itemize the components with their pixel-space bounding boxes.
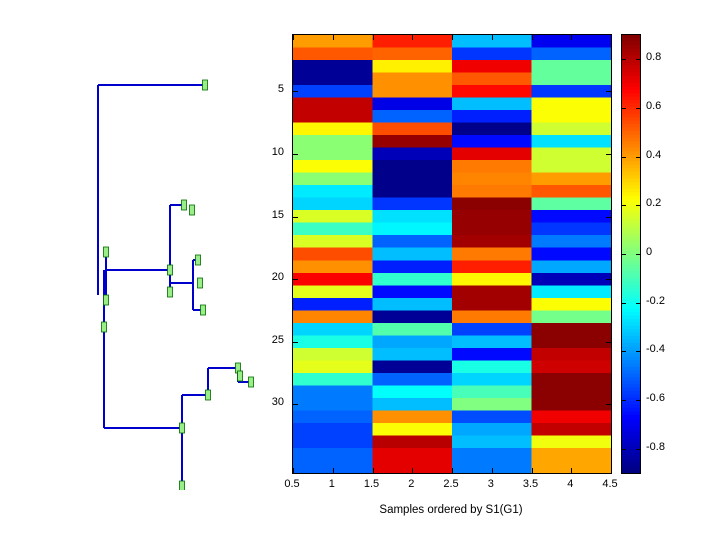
colorbar-band	[622, 189, 640, 193]
heatmap-cell[interactable]	[373, 448, 453, 461]
colorbar-band	[622, 333, 640, 337]
heatmap-cell[interactable]	[452, 423, 532, 436]
dendrogram-svg	[60, 20, 260, 490]
colorbar-tick	[622, 157, 626, 158]
heatmap-cell[interactable]	[293, 73, 373, 86]
heatmap-cell[interactable]	[373, 423, 453, 436]
colorbar-band	[622, 463, 640, 467]
colorbar-tick	[622, 351, 626, 352]
heatmap-cell[interactable]	[293, 448, 373, 461]
heatmap-cell[interactable]	[452, 73, 532, 86]
heatmap-cell[interactable]	[293, 323, 373, 336]
colorbar-label: 0.6	[646, 100, 661, 112]
colorbar-band	[622, 103, 640, 107]
colorbar-band	[622, 456, 640, 460]
heatmap-cell[interactable]	[452, 98, 532, 111]
colorbar-tick	[636, 449, 640, 450]
colorbar-label: 0.8	[646, 51, 661, 63]
colorbar-band	[622, 384, 640, 388]
colorbar-band	[622, 408, 640, 412]
colorbar-band	[622, 264, 640, 268]
heatmap-cell[interactable]	[532, 160, 612, 173]
colorbar-band	[622, 292, 640, 296]
heatmap-cell[interactable]	[452, 160, 532, 173]
colorbar-label: -0.4	[646, 343, 665, 355]
colorbar-band	[622, 247, 640, 251]
colorbar-label: 0.2	[646, 197, 661, 209]
colorbar[interactable]	[621, 34, 641, 474]
heatmap-cell[interactable]	[373, 398, 453, 411]
heatmap-cell[interactable]	[452, 198, 532, 211]
colorbar-band	[622, 145, 640, 149]
colorbar-band	[622, 377, 640, 381]
colorbar-band	[622, 257, 640, 261]
y-tick-label: 25	[254, 334, 284, 346]
heatmap-cell[interactable]	[532, 85, 612, 98]
heatmap-cell[interactable]	[452, 398, 532, 411]
heatmap-cell[interactable]	[452, 85, 532, 98]
heatmap-cell[interactable]	[452, 173, 532, 186]
heatmap-cell[interactable]	[452, 348, 532, 361]
colorbar-band	[622, 210, 640, 214]
heatmap-cell[interactable]	[452, 385, 532, 398]
colorbar-band	[622, 42, 640, 46]
heatmap-cell[interactable]	[532, 448, 612, 461]
heatmap-cell[interactable]	[373, 210, 453, 223]
heatmap-cell[interactable]	[293, 248, 373, 261]
colorbar-label: -0.2	[646, 295, 665, 307]
colorbar-band	[622, 148, 640, 152]
colorbar-tick	[636, 400, 640, 401]
heatmap-cell[interactable]	[452, 223, 532, 236]
colorbar-band	[622, 69, 640, 73]
colorbar-band	[622, 278, 640, 282]
colorbar-band	[622, 114, 640, 118]
colorbar-band	[622, 353, 640, 357]
x-tick-label: 2.5	[433, 478, 469, 490]
heatmap-cell[interactable]	[532, 60, 612, 73]
colorbar-band	[622, 216, 640, 220]
heatmap-cell[interactable]	[532, 398, 612, 411]
heatmap-cell[interactable]	[373, 60, 453, 73]
heatmap-cell[interactable]	[452, 298, 532, 311]
colorbar-band	[622, 196, 640, 200]
dendrogram-panel	[60, 20, 260, 490]
y-tick-label: 10	[254, 146, 284, 158]
colorbar-tick	[622, 400, 626, 401]
heatmap-cell[interactable]	[293, 198, 373, 211]
heatmap-cell[interactable]	[452, 123, 532, 136]
heatmap-cell[interactable]	[293, 373, 373, 386]
colorbar-tick	[636, 59, 640, 60]
heatmap-cell[interactable]	[452, 235, 532, 248]
heatmap-cell[interactable]	[452, 60, 532, 73]
x-tick	[571, 35, 572, 40]
colorbar-band	[622, 35, 640, 39]
heatmap-cell[interactable]	[373, 335, 453, 348]
y-tick-label: 30	[254, 396, 284, 408]
dendrogram-node-marker[interactable]	[168, 287, 173, 297]
colorbar-tick	[622, 449, 626, 450]
heatmap-cell[interactable]	[293, 60, 373, 73]
colorbar-band	[622, 79, 640, 83]
colorbar-band	[622, 134, 640, 138]
colorbar-band	[622, 411, 640, 415]
colorbar-label: 0.4	[646, 149, 661, 161]
colorbar-band	[622, 261, 640, 265]
heatmap-cell[interactable]	[373, 435, 453, 448]
heatmap-cell[interactable]	[532, 335, 612, 348]
colorbar-band	[622, 223, 640, 227]
colorbar-band	[622, 319, 640, 323]
colorbar-band	[622, 117, 640, 121]
heatmap-cell[interactable]	[373, 173, 453, 186]
heatmap-cell[interactable]	[532, 260, 612, 273]
colorbar-band	[622, 439, 640, 443]
heatmap-cell[interactable]	[293, 123, 373, 136]
heatmap-cell[interactable]	[293, 385, 373, 398]
heatmap-cell[interactable]	[373, 85, 453, 98]
colorbar-band	[622, 316, 640, 320]
dendrogram-node-marker[interactable]	[238, 371, 243, 381]
colorbar-tick	[622, 205, 626, 206]
heatmap-cell[interactable]	[452, 110, 532, 123]
heatmap-cell[interactable]	[373, 185, 453, 198]
dendrogram-node-marker[interactable]	[196, 255, 201, 265]
dendrogram-node-marker[interactable]	[102, 322, 107, 332]
colorbar-band	[622, 49, 640, 53]
colorbar-band	[622, 151, 640, 155]
colorbar-band	[622, 86, 640, 90]
colorbar-band	[622, 62, 640, 66]
heatmap-cell[interactable]	[532, 248, 612, 261]
heatmap-cell[interactable]	[452, 310, 532, 323]
x-tick-label: 2	[393, 478, 429, 490]
dendrogram-node-marker[interactable]	[206, 390, 211, 400]
heatmap-cell[interactable]	[532, 185, 612, 198]
heatmap-cell[interactable]	[293, 398, 373, 411]
colorbar-band	[622, 230, 640, 234]
heatmap-cell[interactable]	[373, 160, 453, 173]
heatmap-cell[interactable]	[293, 360, 373, 373]
colorbar-band	[622, 415, 640, 419]
dendrogram-node-marker[interactable]	[104, 247, 109, 257]
dendrogram-node-marker[interactable]	[203, 80, 208, 90]
heatmap-cell[interactable]	[293, 85, 373, 98]
dendrogram-node-marker[interactable]	[168, 265, 173, 275]
heatmap-cell[interactable]	[293, 335, 373, 348]
heatmap-cell[interactable]	[293, 223, 373, 236]
heatmap-cell[interactable]	[293, 185, 373, 198]
heatmap-cell[interactable]	[293, 285, 373, 298]
colorbar-band	[622, 281, 640, 285]
colorbar-band	[622, 435, 640, 439]
heatmap-cell[interactable]	[293, 160, 373, 173]
heatmap-cell[interactable]	[293, 348, 373, 361]
heatmap-cell[interactable]	[373, 310, 453, 323]
x-tick	[571, 468, 572, 473]
colorbar-band	[622, 124, 640, 128]
heatmap-cell[interactable]	[532, 273, 612, 286]
colorbar-band	[622, 346, 640, 350]
heatmap-cell[interactable]	[532, 123, 612, 136]
heatmap-cell[interactable]	[532, 323, 612, 336]
colorbar-band	[622, 268, 640, 272]
heatmap-grid[interactable]	[293, 35, 611, 473]
heatmap-cell[interactable]	[452, 273, 532, 286]
colorbar-band	[622, 220, 640, 224]
colorbar-band	[622, 127, 640, 131]
colorbar-band	[622, 66, 640, 70]
heatmap-cell[interactable]	[293, 110, 373, 123]
heatmap-cell[interactable]	[532, 173, 612, 186]
heatmap-cell[interactable]	[532, 423, 612, 436]
colorbar-band	[622, 381, 640, 385]
heatmap-cell[interactable]	[452, 335, 532, 348]
x-tick	[611, 468, 612, 473]
colorbar-band	[622, 343, 640, 347]
heatmap-cell[interactable]	[373, 373, 453, 386]
colorbar-band	[622, 360, 640, 364]
colorbar-band	[622, 470, 640, 473]
heatmap-cell[interactable]	[532, 235, 612, 248]
colorbar-band	[622, 110, 640, 114]
heatmap-cell[interactable]	[452, 285, 532, 298]
colorbar-band	[622, 326, 640, 330]
heatmap-cell[interactable]	[373, 198, 453, 211]
heatmap-cell[interactable]	[373, 248, 453, 261]
colorbar-tick	[622, 254, 626, 255]
colorbar-band	[622, 76, 640, 80]
heatmap-cell[interactable]	[293, 98, 373, 111]
colorbar-band	[622, 158, 640, 162]
colorbar-band	[622, 90, 640, 94]
colorbar-band	[622, 38, 640, 42]
heatmap-cell[interactable]	[293, 173, 373, 186]
y-tick	[293, 342, 298, 343]
heatmap-cell[interactable]	[373, 148, 453, 161]
heatmap-cell[interactable]	[293, 260, 373, 273]
colorbar-tick	[636, 254, 640, 255]
heatmap-cell[interactable]	[373, 360, 453, 373]
heatmap-cell[interactable]	[293, 273, 373, 286]
heatmap-cell[interactable]	[532, 360, 612, 373]
heatmap-cell[interactable]	[373, 223, 453, 236]
colorbar-band	[622, 394, 640, 398]
colorbar-band	[622, 336, 640, 340]
heatmap-cell[interactable]	[452, 410, 532, 423]
x-tick	[412, 35, 413, 40]
x-tick-label: 0.5	[274, 478, 310, 490]
colorbar-band	[622, 168, 640, 172]
heatmap-cell[interactable]	[452, 360, 532, 373]
colorbar-label: -0.8	[646, 441, 665, 453]
heatmap-cell[interactable]	[293, 235, 373, 248]
colorbar-band	[622, 374, 640, 378]
heatmap-cell[interactable]	[373, 273, 453, 286]
colorbar-band	[622, 322, 640, 326]
y-tick	[606, 217, 611, 218]
colorbar-band	[622, 429, 640, 433]
colorbar-band	[622, 175, 640, 179]
heatmap-cell[interactable]	[452, 48, 532, 61]
colorbar-band	[622, 131, 640, 135]
heatmap-cell[interactable]	[532, 210, 612, 223]
y-tick-label: 15	[254, 209, 284, 221]
heatmap-axes[interactable]	[292, 34, 612, 474]
heatmap-cell[interactable]	[532, 385, 612, 398]
x-tick-label: 1.5	[354, 478, 390, 490]
colorbar-band	[622, 275, 640, 279]
colorbar-band	[622, 199, 640, 203]
heatmap-cell[interactable]	[373, 48, 453, 61]
heatmap-cell[interactable]	[373, 110, 453, 123]
dendrogram-node-marker[interactable]	[180, 481, 185, 490]
colorbar-band	[622, 357, 640, 361]
x-tick	[532, 35, 533, 40]
colorbar-band	[622, 240, 640, 244]
heatmap-cell[interactable]	[373, 323, 453, 336]
colorbar-band	[622, 138, 640, 142]
colorbar-band	[622, 141, 640, 145]
heatmap-cell[interactable]	[293, 435, 373, 448]
heatmap-cell[interactable]	[532, 48, 612, 61]
heatmap-cell[interactable]	[532, 373, 612, 386]
heatmap-cell[interactable]	[532, 110, 612, 123]
heatmap-cell[interactable]	[293, 423, 373, 436]
heatmap-cell[interactable]	[532, 135, 612, 148]
heatmap-cell[interactable]	[293, 210, 373, 223]
colorbar-band	[622, 121, 640, 125]
heatmap-cell[interactable]	[452, 323, 532, 336]
heatmap-cell[interactable]	[373, 285, 453, 298]
colorbar-band	[622, 179, 640, 183]
y-tick	[293, 279, 298, 280]
colorbar-band	[622, 165, 640, 169]
dendrogram-node-marker[interactable]	[249, 377, 254, 387]
heatmap-cell[interactable]	[373, 235, 453, 248]
heatmap-cell[interactable]	[373, 260, 453, 273]
heatmap-cell[interactable]	[532, 98, 612, 111]
colorbar-tick	[636, 108, 640, 109]
x-axis-title: Samples ordered by S1(G1)	[292, 504, 610, 516]
colorbar-band	[622, 233, 640, 237]
heatmap-cell[interactable]	[373, 348, 453, 361]
colorbar-band	[622, 422, 640, 426]
heatmap-cell[interactable]	[293, 310, 373, 323]
colorbar-band	[622, 172, 640, 176]
heatmap-cell[interactable]	[532, 198, 612, 211]
x-tick-label: 1	[314, 478, 350, 490]
heatmap-cell[interactable]	[532, 148, 612, 161]
dendrogram-node-marker[interactable]	[104, 295, 109, 305]
colorbar-band	[622, 295, 640, 299]
heatmap-cell[interactable]	[452, 260, 532, 273]
x-tick	[333, 35, 334, 40]
heatmap-cell[interactable]	[452, 185, 532, 198]
colorbar-tick	[622, 108, 626, 109]
heatmap-cell[interactable]	[293, 135, 373, 148]
heatmap-cell[interactable]	[452, 135, 532, 148]
y-tick	[293, 91, 298, 92]
colorbar-band	[622, 97, 640, 101]
heatmap-cell[interactable]	[532, 310, 612, 323]
colorbar-band	[622, 418, 640, 422]
colorbar-label: 0	[646, 246, 652, 258]
heatmap-cell[interactable]	[373, 98, 453, 111]
heatmap-cell[interactable]	[452, 248, 532, 261]
heatmap-cell[interactable]	[293, 148, 373, 161]
colorbar-band	[622, 466, 640, 470]
heatmap-cell[interactable]	[293, 298, 373, 311]
heatmap-cell[interactable]	[293, 410, 373, 423]
y-tick	[293, 404, 298, 405]
heatmap-cell[interactable]	[532, 285, 612, 298]
colorbar-tick	[636, 303, 640, 304]
heatmap-cell[interactable]	[452, 148, 532, 161]
colorbar-band	[622, 45, 640, 49]
colorbar-band	[622, 340, 640, 344]
heatmap-cell[interactable]	[373, 123, 453, 136]
heatmap-cell[interactable]	[532, 435, 612, 448]
x-tick	[452, 35, 453, 40]
heatmap-cell[interactable]	[452, 210, 532, 223]
heatmap-cell[interactable]	[293, 48, 373, 61]
colorbar-tick	[636, 157, 640, 158]
dendrogram-node-marker[interactable]	[201, 305, 206, 315]
colorbar-band	[622, 52, 640, 56]
colorbar-band	[622, 329, 640, 333]
x-tick	[412, 468, 413, 473]
heatmap-cell[interactable]	[532, 348, 612, 361]
colorbar-band	[622, 73, 640, 77]
y-tick-label: 5	[254, 83, 284, 95]
heatmap-cell[interactable]	[532, 298, 612, 311]
heatmap-cell[interactable]	[373, 135, 453, 148]
colorbar-band	[622, 391, 640, 395]
heatmap-cell[interactable]	[532, 410, 612, 423]
colorbar-band	[622, 364, 640, 368]
heatmap-cell[interactable]	[452, 435, 532, 448]
dendrogram-node-marker[interactable]	[198, 278, 203, 288]
heatmap-cell[interactable]	[452, 373, 532, 386]
colorbar-band	[622, 100, 640, 104]
colorbar-tick	[622, 303, 626, 304]
y-tick	[606, 404, 611, 405]
heatmap-cell[interactable]	[373, 410, 453, 423]
x-tick	[293, 35, 294, 40]
dendrogram-node-marker[interactable]	[190, 205, 195, 215]
dendrogram-node-marker[interactable]	[180, 423, 185, 433]
x-tick	[452, 468, 453, 473]
colorbar-band	[622, 367, 640, 371]
dendrogram-node-marker[interactable]	[182, 200, 187, 210]
heatmap-cell[interactable]	[373, 73, 453, 86]
colorbar-band	[622, 213, 640, 217]
heatmap-cell[interactable]	[373, 298, 453, 311]
heatmap-cell[interactable]	[373, 385, 453, 398]
heatmap-cell[interactable]	[452, 448, 532, 461]
x-tick	[532, 468, 533, 473]
colorbar-band	[622, 309, 640, 313]
x-tick-label: 4	[552, 478, 588, 490]
y-tick	[293, 154, 298, 155]
colorbar-band	[622, 370, 640, 374]
heatmap-cell[interactable]	[532, 73, 612, 86]
figure-canvas: 51015202530 0.511.522.533.544.5 Genes (r…	[0, 0, 720, 540]
heatmap-cell[interactable]	[532, 223, 612, 236]
colorbar-tick	[636, 351, 640, 352]
